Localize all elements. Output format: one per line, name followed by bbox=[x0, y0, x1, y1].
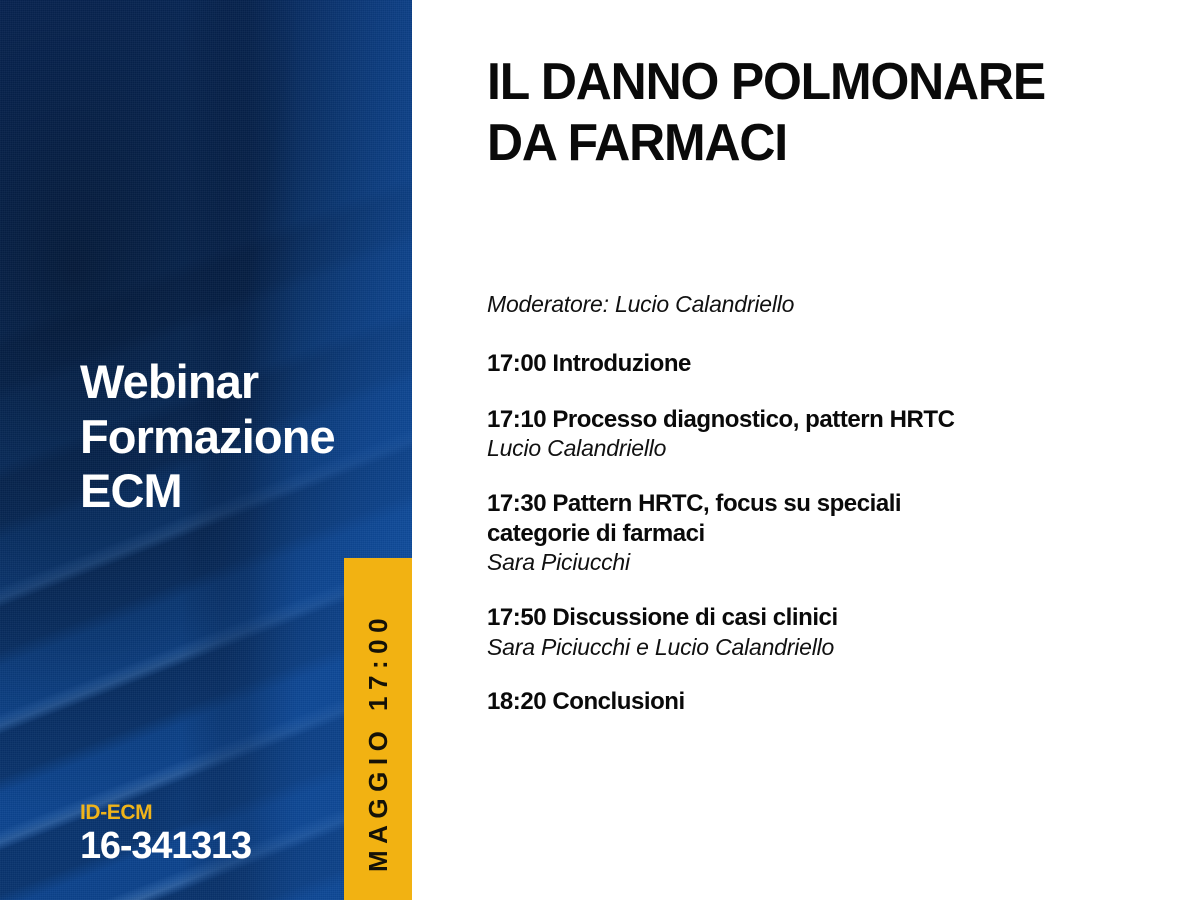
agenda-item: 17:30 Pattern HRTC, focus su speciali ca… bbox=[487, 489, 1127, 577]
webinar-heading-line-2: Formazione bbox=[80, 410, 390, 465]
agenda-item: 17:50 Discussione di casi clinici Sara P… bbox=[487, 603, 1127, 661]
agenda-item-title: 17:30 Pattern HRTC, focus su speciali bbox=[487, 489, 1127, 519]
webinar-heading-line-3: ECM bbox=[80, 464, 390, 519]
agenda-item-title: 17:10 Processo diagnostico, pattern HRTC bbox=[487, 405, 1127, 435]
agenda-item-title-line-2: categorie di farmaci bbox=[487, 519, 1127, 549]
agenda-item-speaker: Sara Piciucchi bbox=[487, 548, 1127, 577]
agenda-item-speaker: Lucio Calandriello bbox=[487, 434, 1127, 463]
agenda-item: 17:10 Processo diagnostico, pattern HRTC… bbox=[487, 405, 1127, 463]
content-area: IL DANNO POLMONARE DA FARMACI Moderatore… bbox=[487, 0, 1147, 900]
id-ecm-value: 16-341313 bbox=[80, 826, 251, 868]
agenda-item-title: 18:20 Conclusioni bbox=[487, 687, 1127, 717]
event-title-line-2: DA FARMACI bbox=[487, 113, 1101, 174]
agenda-item-title: 17:00 Introduzione bbox=[487, 349, 1127, 379]
date-time-strip: MAGGIO 17:00 bbox=[344, 558, 412, 900]
id-ecm-label: ID-ECM bbox=[80, 802, 251, 824]
id-ecm-block: ID-ECM 16-341313 bbox=[80, 802, 251, 868]
webinar-poster: Webinar Formazione ECM ID-ECM 16-341313 … bbox=[0, 0, 1200, 900]
webinar-heading: Webinar Formazione ECM bbox=[80, 355, 390, 519]
agenda-item-speaker: Sara Piciucchi e Lucio Calandriello bbox=[487, 633, 1127, 662]
agenda-item: 17:00 Introduzione bbox=[487, 349, 1127, 379]
event-title: IL DANNO POLMONARE DA FARMACI bbox=[487, 52, 1101, 175]
event-title-line-1: IL DANNO POLMONARE bbox=[487, 52, 1101, 113]
date-time-strip-label: MAGGIO 17:00 bbox=[363, 612, 394, 872]
agenda-item: 18:20 Conclusioni bbox=[487, 687, 1127, 717]
webinar-heading-line-1: Webinar bbox=[80, 355, 390, 410]
moderator-line: Moderatore: Lucio Calandriello bbox=[487, 290, 1127, 319]
date-time-strip-rotated-wrapper: MAGGIO 17:00 bbox=[344, 558, 412, 900]
agenda-list: Moderatore: Lucio Calandriello 17:00 Int… bbox=[487, 290, 1127, 717]
agenda-item-title: 17:50 Discussione di casi clinici bbox=[487, 603, 1127, 633]
